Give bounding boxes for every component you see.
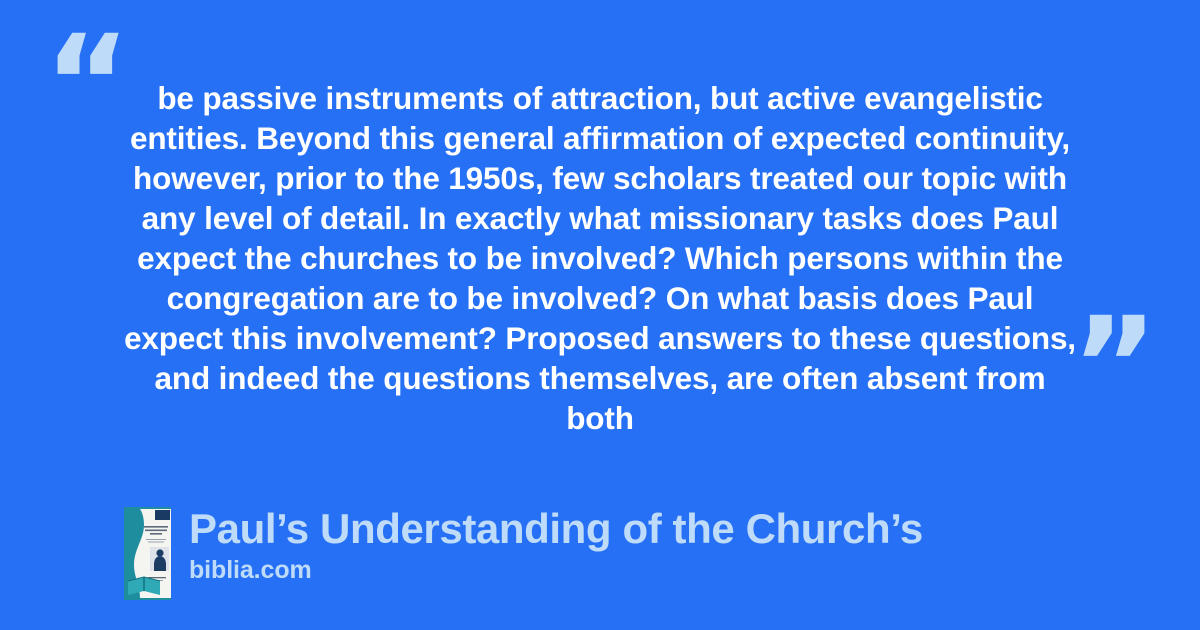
footer: Paul’s Understanding of the Church’s bib… (124, 505, 923, 600)
open-quote-icon: “ (44, 18, 129, 150)
close-quote-icon: ” (1071, 300, 1156, 432)
book-title: Paul’s Understanding of the Church’s (189, 505, 923, 553)
quote-block: be passive instruments of attraction, bu… (120, 78, 1080, 438)
site-name[interactable]: biblia.com (189, 555, 923, 585)
book-cover-artwork-icon (124, 507, 171, 600)
quote-text: be passive instruments of attraction, bu… (120, 78, 1080, 438)
book-cover-thumbnail-icon[interactable] (124, 507, 171, 600)
quote-card: “ ” be passive instruments of attraction… (0, 0, 1200, 630)
footer-text: Paul’s Understanding of the Church’s bib… (189, 505, 923, 585)
